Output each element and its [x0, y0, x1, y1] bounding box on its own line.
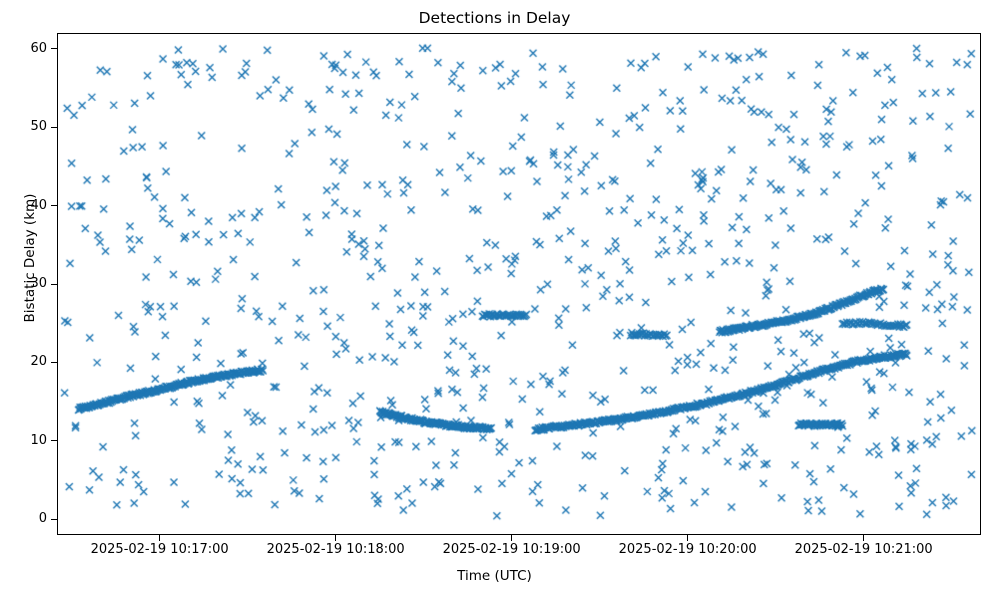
x-tick-label: 2025-02-19 10:18:00 [226, 543, 446, 557]
x-tick-mark [511, 535, 512, 541]
x-tick-label: 2025-02-19 10:17:00 [50, 543, 270, 557]
figure-canvas: Detections in Delay 0102030405060 2025-0… [0, 0, 989, 590]
scatter-plot-canvas [58, 34, 980, 534]
x-tick-label: 2025-02-19 10:21:00 [754, 543, 974, 557]
x-axis-label: Time (UTC) [0, 568, 989, 584]
x-tick-mark [159, 535, 160, 541]
chart-title: Detections in Delay [0, 8, 989, 28]
y-axis-label: Bistatic Delay (km) [22, 18, 38, 498]
x-tick-label: 2025-02-19 10:20:00 [578, 543, 798, 557]
x-tick-mark [863, 535, 864, 541]
x-tick-mark [687, 535, 688, 541]
x-tick-label: 2025-02-19 10:19:00 [402, 543, 622, 557]
plot-area[interactable] [57, 33, 981, 535]
x-tick-mark [335, 535, 336, 541]
y-tick-label: 0 [7, 512, 47, 525]
